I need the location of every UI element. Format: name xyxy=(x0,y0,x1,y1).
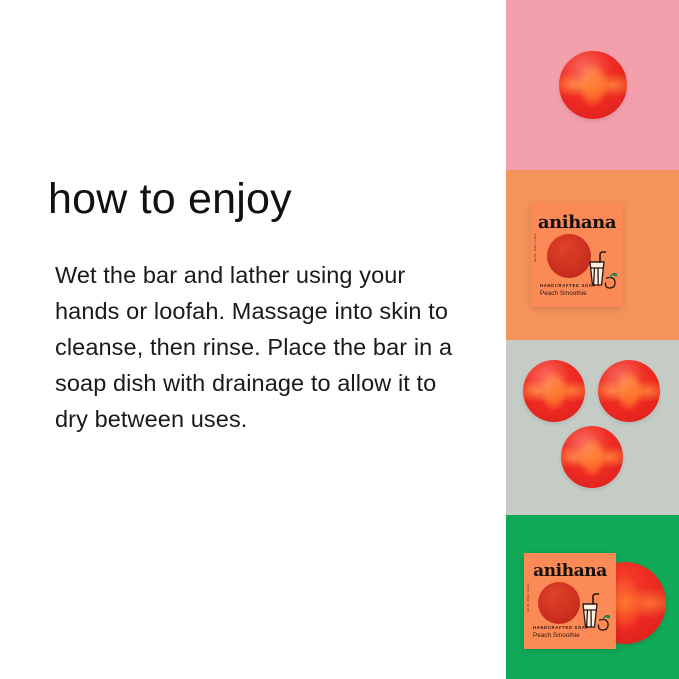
soap-bar-icon xyxy=(559,51,627,119)
instructions-paragraph: Wet the bar and lather using your hands … xyxy=(55,257,475,437)
soap-bar-icon xyxy=(561,426,623,488)
product-detail-image: how to enjoy Wet the bar and lather usin… xyxy=(0,0,679,679)
product-descriptor: HANDCRAFTED SOAP xyxy=(533,625,589,630)
gallery-panel-box-with-bar-green: anihana Net Wt. 100g / 4.23oz H xyxy=(506,515,679,679)
product-descriptor: HANDCRAFTED SOAP xyxy=(540,283,596,288)
product-variant-name: Peach Smoothie xyxy=(533,632,580,639)
soap-bar-icon xyxy=(598,360,660,422)
product-image-strip: anihana Net Wt. 100g / 4.23oz H xyxy=(506,0,679,679)
page-title: how to enjoy xyxy=(48,173,292,225)
how-to-enjoy-text-panel: how to enjoy Wet the bar and lather usin… xyxy=(0,0,506,679)
brand-logo: anihana xyxy=(531,212,623,233)
gallery-panel-three-soap-bars-grey xyxy=(506,340,679,515)
product-variant-name: Peach Smoothie xyxy=(540,290,587,297)
gallery-panel-single-soap-bar-pink xyxy=(506,0,679,170)
brand-logo: anihana xyxy=(524,561,616,581)
soap-bar-icon xyxy=(523,360,585,422)
net-weight-label: Net Wt. 100g / 4.23oz xyxy=(534,233,537,262)
product-box: anihana Net Wt. 100g / 4.23oz H xyxy=(531,203,623,307)
box-window-soap-icon xyxy=(538,582,580,624)
net-weight-label: Net Wt. 100g / 4.23oz xyxy=(527,583,530,612)
gallery-panel-packaged-box-orange: anihana Net Wt. 100g / 4.23oz H xyxy=(506,170,679,340)
product-box: anihana Net Wt. 100g / 4.23oz H xyxy=(524,553,616,649)
